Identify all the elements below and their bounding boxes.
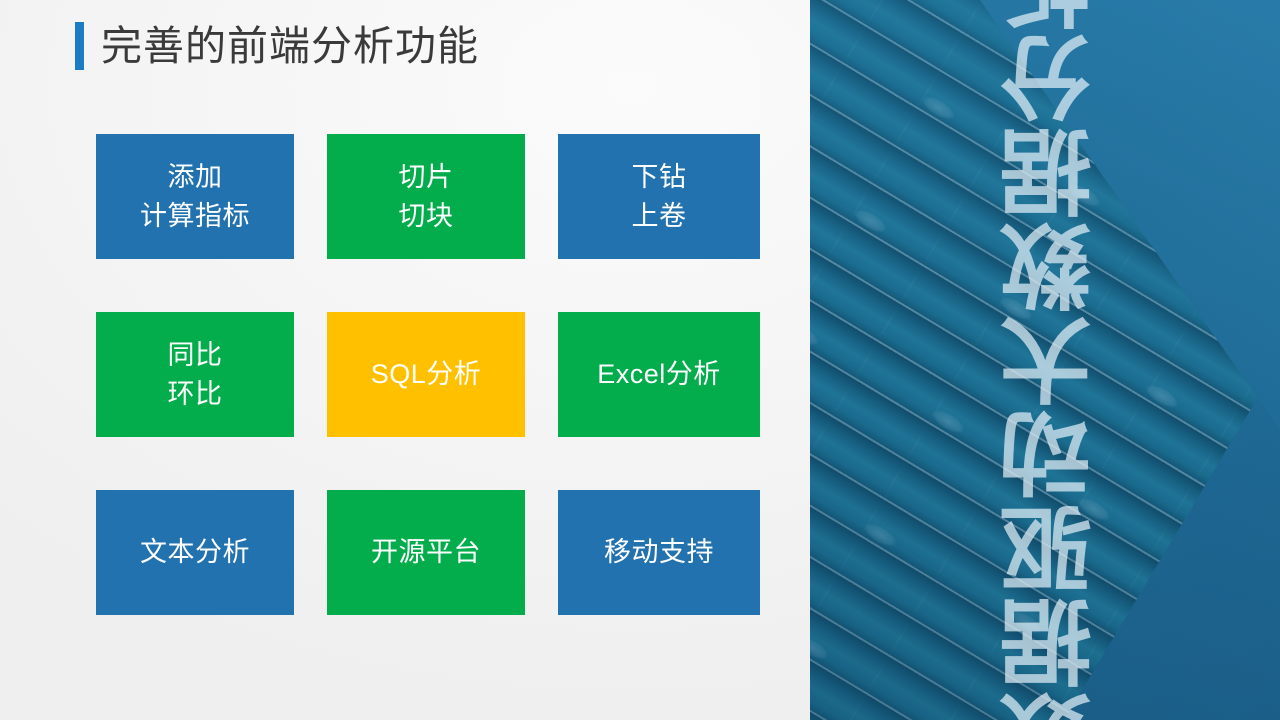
left-content-panel: 完善的前端分析功能 添加 计算指标 切片 切块 下钻 上卷 同比 环比 SQL分… bbox=[0, 0, 810, 720]
right-image-panel: 数据驱动大数据分析 bbox=[810, 0, 1280, 720]
tile-open-source-platform[interactable]: 开源平台 bbox=[327, 490, 525, 615]
tile-mobile-support[interactable]: 移动支持 bbox=[558, 490, 760, 615]
tile-label-line-1: 同比 bbox=[168, 336, 223, 374]
tile-drill-down-roll-up[interactable]: 下钻 上卷 bbox=[558, 134, 760, 259]
page-title: 完善的前端分析功能 bbox=[101, 26, 479, 67]
tile-label-line-1: 切片 bbox=[399, 158, 454, 196]
tile-yoy-mom[interactable]: 同比 环比 bbox=[96, 312, 294, 437]
tile-label-line-1: SQL分析 bbox=[371, 355, 482, 393]
page-title-block: 完善的前端分析功能 bbox=[75, 22, 479, 70]
tile-label-line-1: Excel分析 bbox=[597, 355, 721, 393]
tile-label-line-1: 移动支持 bbox=[604, 533, 714, 571]
title-accent-bar bbox=[75, 22, 84, 70]
tile-label-line-2: 环比 bbox=[168, 375, 223, 413]
tile-label-line-2: 上卷 bbox=[632, 197, 687, 235]
tile-text-analysis[interactable]: 文本分析 bbox=[96, 490, 294, 615]
tile-label-line-1: 下钻 bbox=[632, 158, 687, 196]
tile-label-line-2: 计算指标 bbox=[140, 197, 250, 235]
tile-slice-and-dice[interactable]: 切片 切块 bbox=[327, 134, 525, 259]
photo-blue-tint-overlay bbox=[810, 0, 1280, 720]
tile-sql-analysis[interactable]: SQL分析 bbox=[327, 312, 525, 437]
tile-label-line-1: 添加 bbox=[168, 158, 223, 196]
tile-label-line-2: 切块 bbox=[399, 197, 454, 235]
tile-excel-analysis[interactable]: Excel分析 bbox=[558, 312, 760, 437]
tile-add-calculated-metric[interactable]: 添加 计算指标 bbox=[96, 134, 294, 259]
feature-tile-grid: 添加 计算指标 切片 切块 下钻 上卷 同比 环比 SQL分析 Excel分析 bbox=[96, 134, 758, 615]
tile-label-line-1: 开源平台 bbox=[371, 533, 481, 571]
slide-canvas: 完善的前端分析功能 添加 计算指标 切片 切块 下钻 上卷 同比 环比 SQL分… bbox=[0, 0, 1280, 720]
tile-label-line-1: 文本分析 bbox=[140, 533, 250, 571]
